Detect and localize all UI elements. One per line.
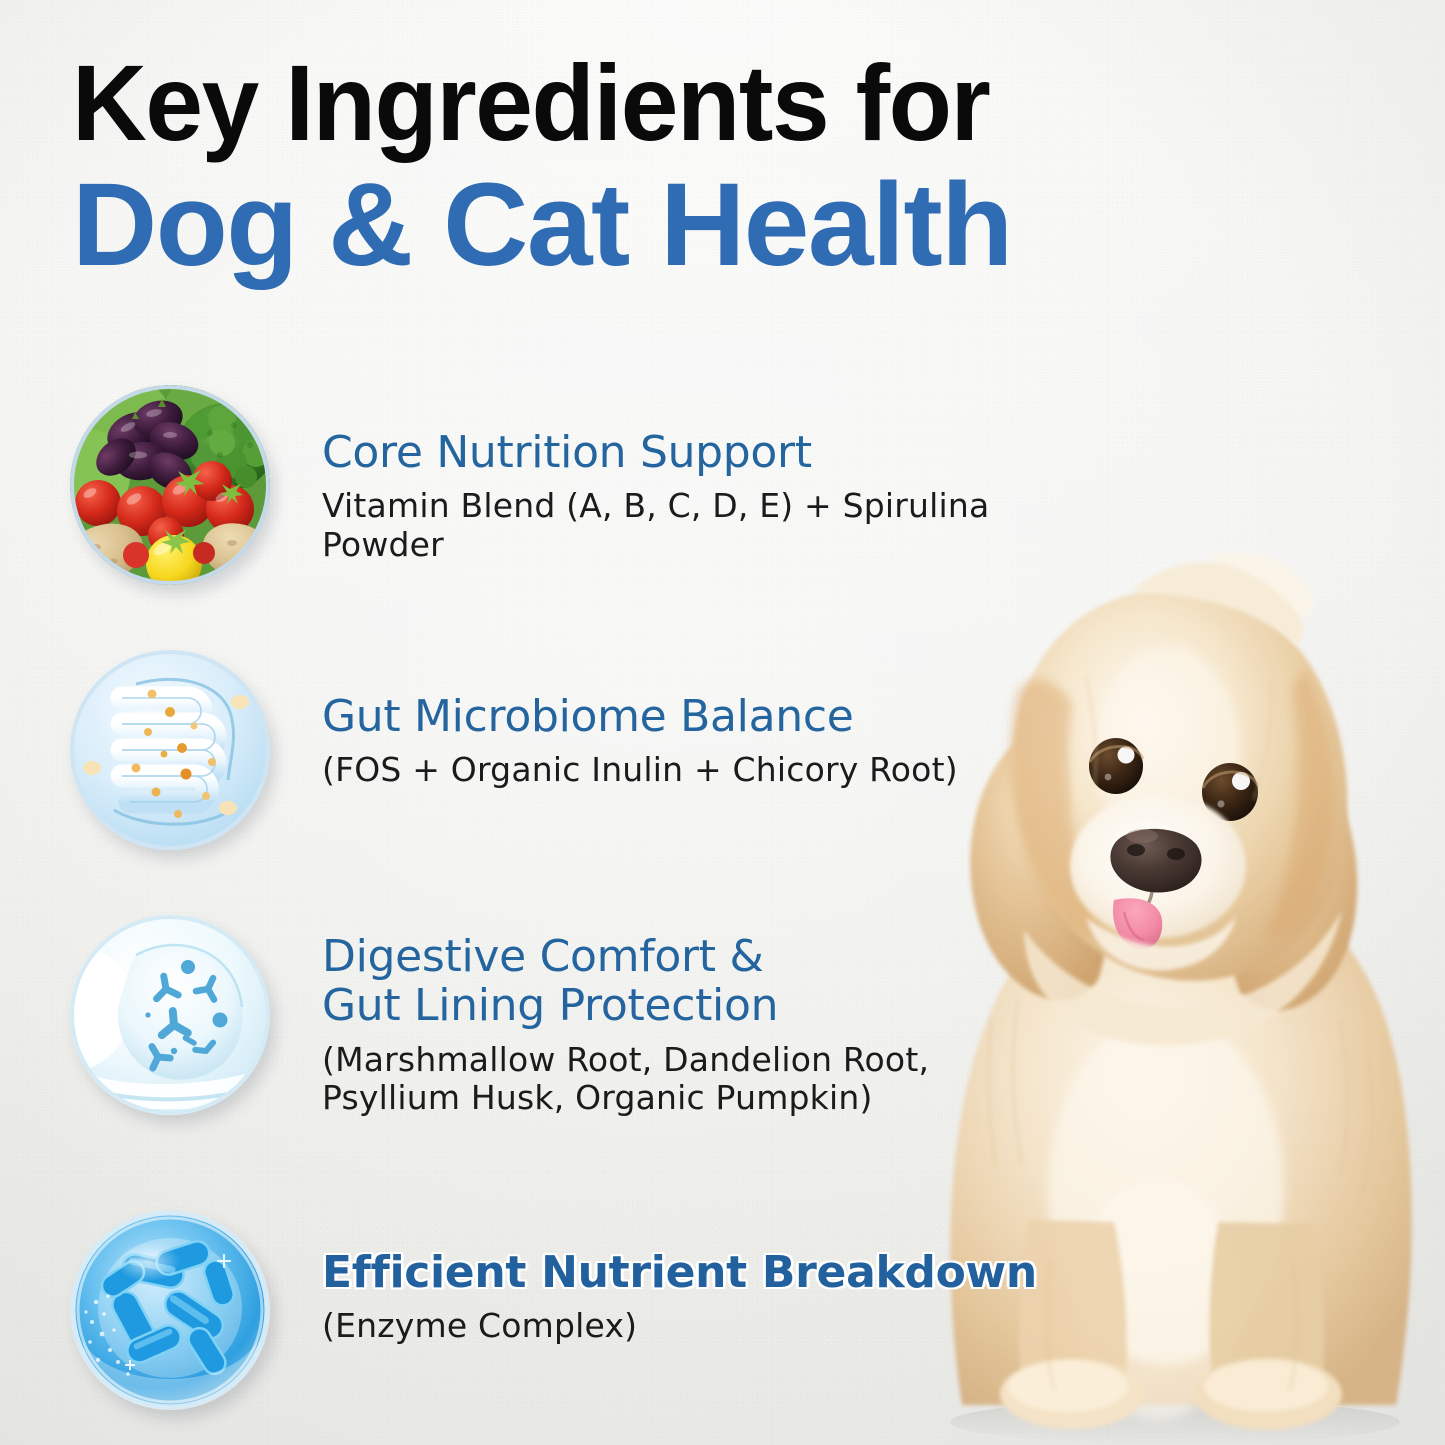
gut-lining-cells-icon	[70, 915, 270, 1115]
feature-subtext-3: (Marshmallow Root, Dandelion Root, Psyll…	[322, 1041, 1112, 1119]
feature-heading-3: Digestive Comfort & Gut Lining Protectio…	[322, 932, 1112, 1031]
feature-heading-2: Gut Microbiome Balance	[322, 692, 1112, 741]
title-line-2: Dog & Cat Health	[72, 169, 1372, 281]
feature-subtext-1: Vitamin Blend (A, B, C, D, E) + Spirulin…	[322, 487, 1112, 565]
page-title: Key Ingredients for Dog & Cat Health	[72, 52, 1372, 281]
feature-text-3: Digestive Comfort & Gut Lining Protectio…	[322, 932, 1112, 1118]
feature-text-4: Efficient Nutrient Breakdown (Enzyme Com…	[322, 1248, 1122, 1346]
gut-intestine-icon	[70, 650, 270, 850]
feature-subtext-2: (FOS + Organic Inulin + Chicory Root)	[322, 751, 1112, 790]
feature-text-1: Core Nutrition Support Vitamin Blend (A,…	[322, 428, 1112, 565]
feature-heading-4: Efficient Nutrient Breakdown	[322, 1248, 1122, 1297]
vegetables-photo-icon	[70, 385, 270, 585]
enzyme-bacteria-icon	[70, 1210, 270, 1410]
feature-heading-1: Core Nutrition Support	[322, 428, 1112, 477]
feature-subtext-4: (Enzyme Complex)	[322, 1307, 1122, 1346]
title-line-1: Key Ingredients for	[72, 52, 1320, 155]
ingredients-infographic: Key Ingredients for Dog & Cat Health	[0, 0, 1445, 1445]
feature-text-2: Gut Microbiome Balance (FOS + Organic In…	[322, 692, 1112, 790]
